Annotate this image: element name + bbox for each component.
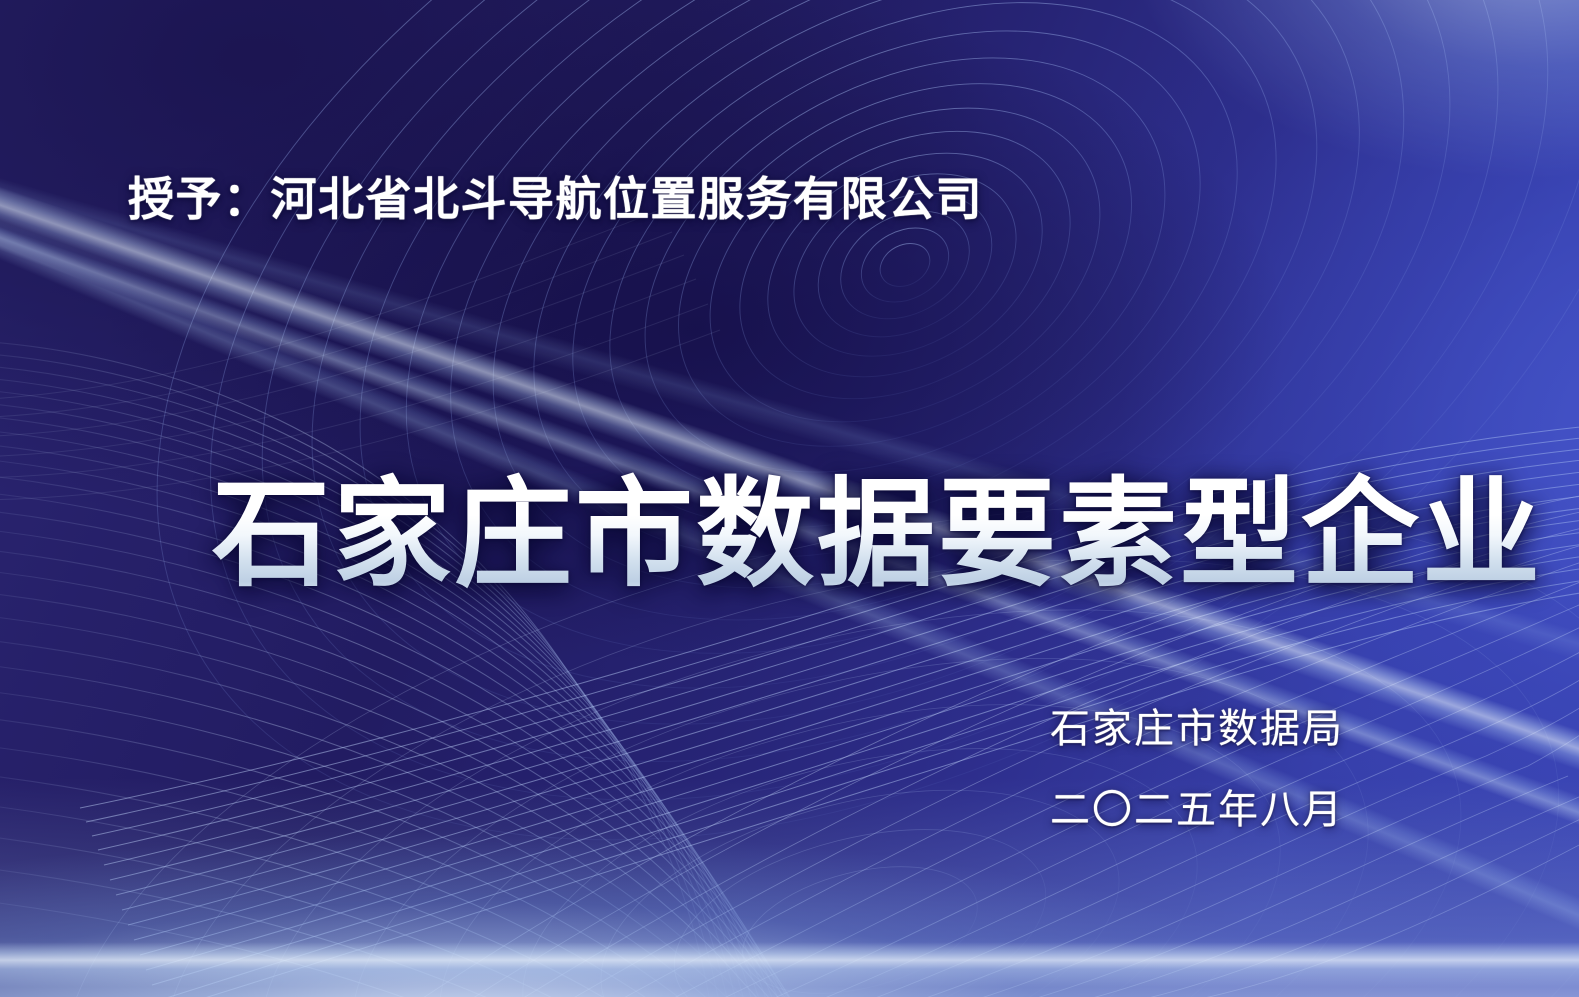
- page-title: 石家庄市数据要素型企业: [212, 472, 1543, 599]
- award-recipient-line: 授予：河北省北斗导航位置服务有限公司: [128, 163, 983, 229]
- issue-date: 二〇二五年八月: [1050, 777, 1344, 835]
- certificate-canvas: 授予：河北省北斗导航位置服务有限公司 石家庄市数据要素型企业 石家庄市数据局 二…: [0, 0, 1579, 997]
- signature-block: 石家庄市数据局 二〇二五年八月: [1050, 696, 1344, 835]
- issuer-name: 石家庄市数据局: [1050, 696, 1344, 754]
